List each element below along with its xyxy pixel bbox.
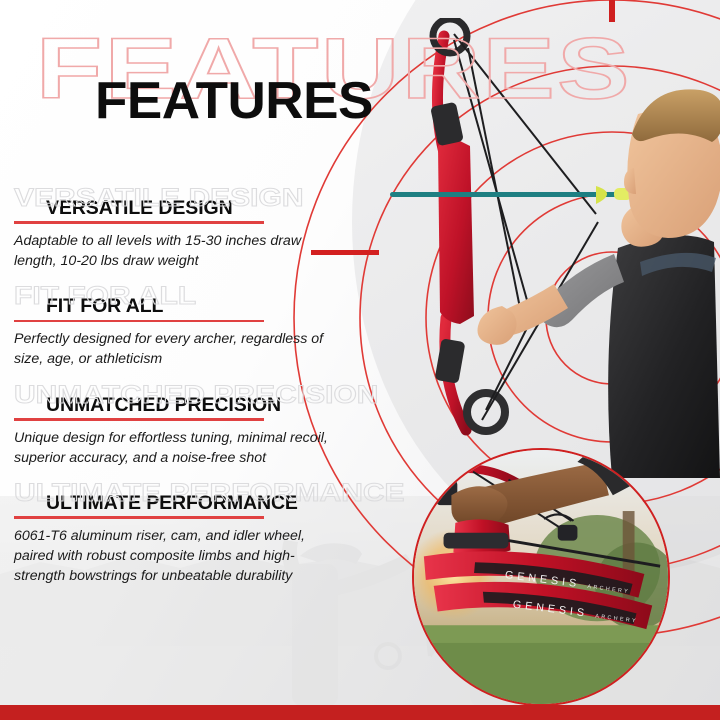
infographic-canvas: FEATURES FEATURES VERSATILE DESIGN VERSA… [0,0,720,720]
feature-body: Unique design for effortless tuning, min… [14,428,344,468]
feature-underline [14,516,264,519]
feature-item: FIT FOR ALL FIT FOR ALL Perfectly design… [0,284,420,369]
feature-body: 6061-T6 aluminum riser, cam, and idler w… [14,526,344,586]
feature-heading: VERSATILE DESIGN [46,198,420,218]
feature-underline [14,418,264,421]
product-detail-inset-photo: GENESIS ARCHERY GENESIS ARCHERY [412,448,670,706]
feature-item: ULTIMATE PERFORMANCE ULTIMATE PERFORMANC… [0,481,420,586]
feature-body: Adaptable to all levels with 15-30 inche… [14,231,344,271]
features-list: VERSATILE DESIGN VERSATILE DESIGN Adapta… [0,186,420,599]
feature-item: VERSATILE DESIGN VERSATILE DESIGN Adapta… [0,186,420,271]
feature-body: Perfectly designed for every archer, reg… [14,329,344,369]
feature-heading: UNMATCHED PRECISION [46,395,420,415]
feature-underline [14,320,264,323]
feature-heading: ULTIMATE PERFORMANCE [46,493,420,513]
page-title: FEATURES [95,75,373,127]
bottom-accent-bar [0,705,720,720]
feature-underline [14,221,264,224]
feature-heading: FIT FOR ALL [46,296,420,316]
feature-item: UNMATCHED PRECISION UNMATCHED PRECISION … [0,383,420,468]
